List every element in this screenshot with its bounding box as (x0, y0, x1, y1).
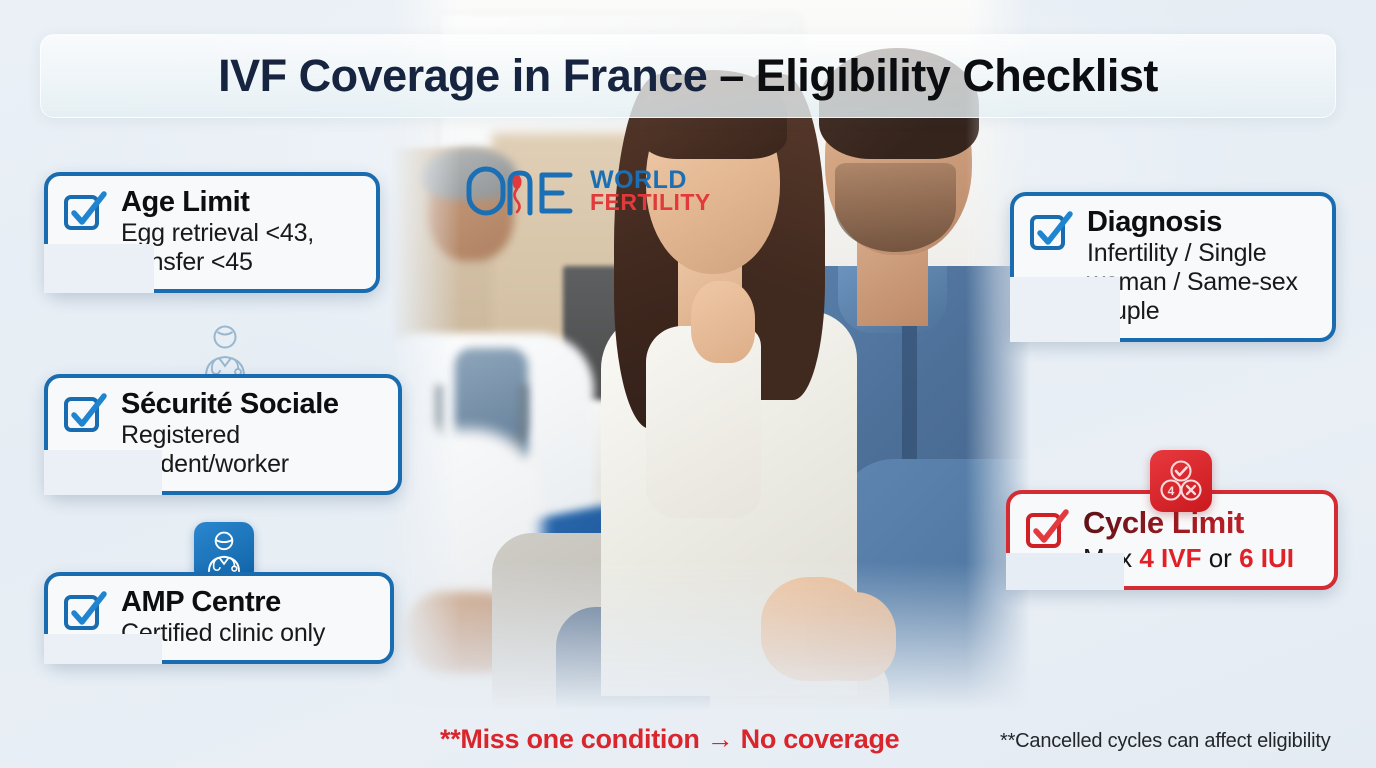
doctor-outline-icon (196, 320, 254, 382)
cycle-value-ivf: 4 IVF (1139, 543, 1201, 573)
checkbox-checked-icon (63, 589, 109, 633)
card-title: Diagnosis (1087, 207, 1316, 237)
checklist-card-securite-sociale[interactable]: Sécurité Sociale Registered resident/wor… (44, 374, 402, 495)
svg-text:4: 4 (1168, 484, 1175, 498)
footer-note-text: **Cancelled cycles can affect eligibilit… (1000, 730, 1331, 753)
checklist-card-age-limit[interactable]: Age Limit Egg retrieval <43, transfer <4… (44, 172, 380, 293)
card-subtitle: Infertility / Single woman / Same-sex co… (1087, 239, 1316, 326)
logo-word-fertility: FERTILITY (590, 192, 711, 213)
cycle-counter-badge-icon: 4 (1150, 450, 1212, 512)
card-subtitle: Max 4 IVF or 6 IUI (1083, 543, 1318, 574)
photo-woman-hand (691, 281, 755, 362)
checkbox-checked-icon (1029, 209, 1075, 253)
one-wordmark-icon (466, 163, 586, 219)
checkbox-checked-icon (63, 189, 109, 233)
cycle-value-iui: 6 IUI (1239, 543, 1294, 573)
checkbox-checked-icon (1025, 507, 1071, 551)
photo-clasped-hands-2 (806, 592, 896, 681)
brand-logo: WORLD FERTILITY (466, 160, 716, 222)
footer-warning-text: **Miss one condition → No coverage (440, 724, 899, 755)
card-title: AMP Centre (121, 587, 374, 617)
card-subtitle: Registered resident/worker (121, 421, 382, 479)
checklist-card-amp-centre[interactable]: AMP Centre Certified clinic only (44, 572, 394, 664)
checklist-card-diagnosis[interactable]: Diagnosis Infertility / Single woman / S… (1010, 192, 1336, 342)
checkbox-checked-icon (63, 391, 109, 435)
card-title: Age Limit (121, 187, 360, 217)
card-subtitle: Egg retrieval <43, transfer <45 (121, 219, 360, 277)
infographic-canvas: WORLD FERTILITY IVF Coverage in France –… (0, 0, 1376, 768)
card-subtitle: Certified clinic only (121, 619, 374, 648)
card-title: Sécurité Sociale (121, 389, 382, 419)
page-title-part-2: – Eligibility Checklist (719, 50, 1158, 101)
photo-man-beard (835, 163, 957, 252)
cycle-sub-middle: or (1201, 543, 1239, 573)
page-title-banner: IVF Coverage in France – Eligibility Che… (40, 34, 1336, 118)
page-title: IVF Coverage in France – Eligibility Che… (218, 50, 1158, 102)
cycle-sub-prefix: Max (1083, 543, 1139, 573)
page-title-part-1: IVF Coverage in France (218, 50, 719, 101)
